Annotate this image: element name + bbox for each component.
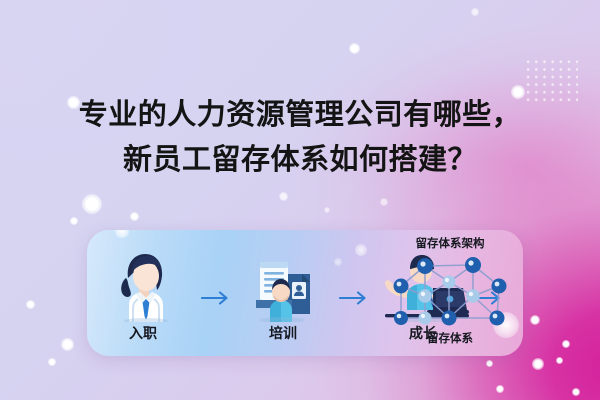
illustration-card: 入职 <box>87 230 523 356</box>
title-line-1: 专业的人力资源管理公司有哪些， <box>0 92 600 137</box>
network-top-label: 留存体系架构 <box>384 236 516 250</box>
title-line-2: 新员工留存体系如何搭建？ <box>0 137 600 182</box>
card-bokeh-dot <box>115 230 129 238</box>
stage-training[interactable]: 培训 <box>237 248 329 343</box>
retention-network-diagram: 留存体系架构 <box>384 236 516 350</box>
arrow-right-icon <box>339 290 369 306</box>
network-graph-svg <box>387 252 513 330</box>
training-document-icon <box>244 248 322 322</box>
stage-label-onboarding: 入职 <box>97 323 189 343</box>
poster-canvas: 专业的人力资源管理公司有哪些， 新员工留存体系如何搭建？ <box>0 0 600 400</box>
stage-onboarding[interactable]: 入职 <box>97 248 189 343</box>
stage-label-training: 培训 <box>237 323 329 343</box>
network-bottom-label: 留存体系 <box>384 331 516 345</box>
arrow-right-icon <box>201 290 231 306</box>
card-bokeh-dot <box>355 244 367 256</box>
card-bokeh-dot <box>334 258 342 266</box>
poster-title: 专业的人力资源管理公司有哪些， 新员工留存体系如何搭建？ <box>0 92 600 182</box>
employee-onboarding-icon <box>104 248 182 322</box>
